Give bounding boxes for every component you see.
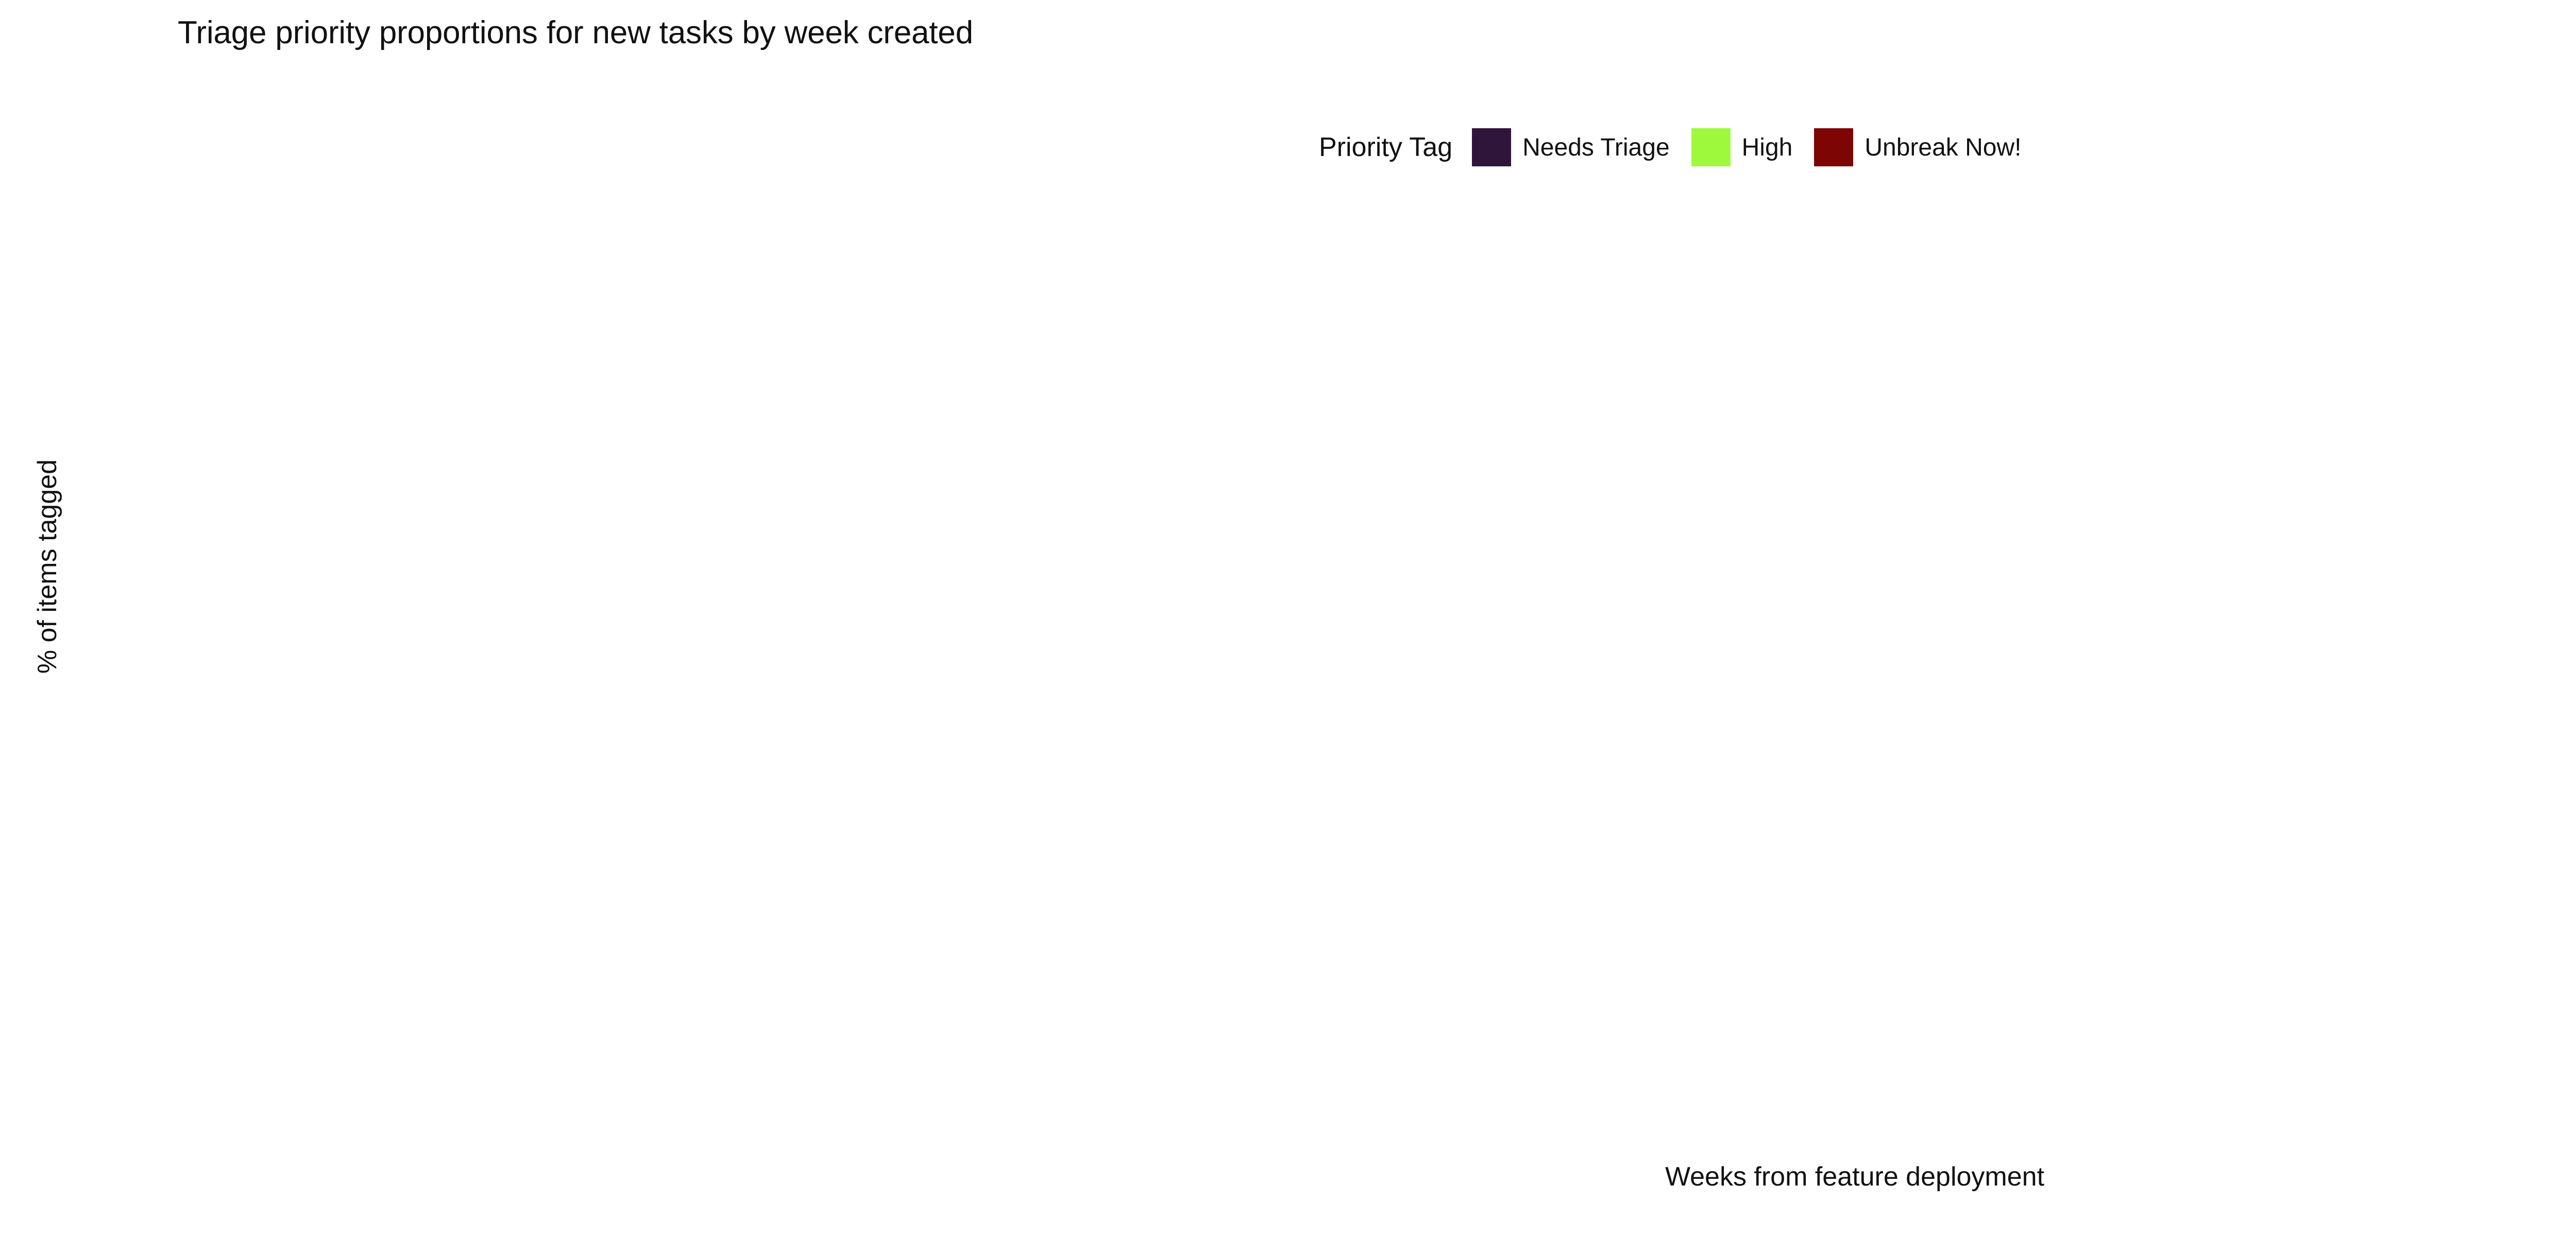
- chart-title: Triage priority proportions for new task…: [178, 14, 973, 51]
- legend-label-high: High: [1742, 133, 1793, 162]
- legend-item-unbreak-now[interactable]: Unbreak Now!: [1814, 128, 2021, 166]
- legend-swatch-unbreak-now: [1814, 128, 1853, 166]
- legend-label-unbreak-now: Unbreak Now!: [1865, 133, 2021, 162]
- legend-item-high[interactable]: High: [1691, 128, 1793, 166]
- y-axis-label: % of items tagged: [32, 412, 63, 721]
- x-axis-label: Weeks from feature deployment: [0, 1161, 2576, 1192]
- x-axis: [219, 1084, 2576, 1146]
- legend-swatch-high: [1691, 128, 1731, 166]
- legend: Priority Tag Needs Triage High Unbreak N…: [1319, 129, 2043, 166]
- chart-root: Triage priority proportions for new task…: [0, 0, 2576, 1236]
- legend-swatch-needs-triage: [1472, 128, 1511, 166]
- facet-panels: [219, 278, 2576, 1084]
- legend-label-needs-triage: Needs Triage: [1522, 133, 1670, 162]
- legend-item-needs-triage[interactable]: Needs Triage: [1472, 128, 1670, 166]
- legend-title: Priority Tag: [1319, 132, 1452, 163]
